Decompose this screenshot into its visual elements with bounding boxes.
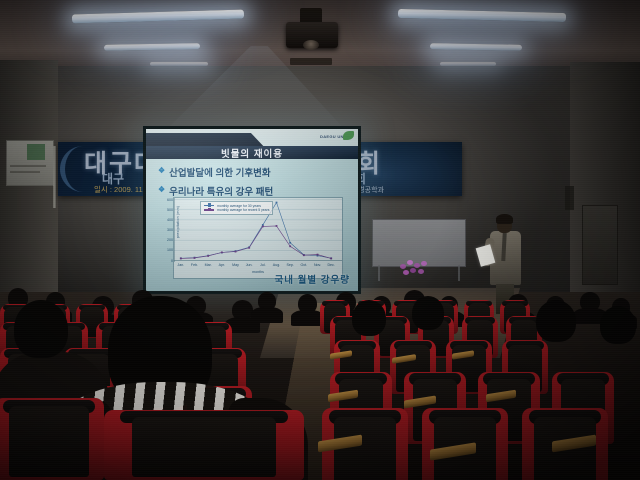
list-item: ❖ 우리나라 특유의 강우 패턴 [158,184,348,198]
audience-head [14,300,68,358]
chart-y-tick: 100 [167,248,173,252]
seat-cushion [334,417,396,480]
chart-x-tick: Aug. [273,263,280,267]
chart-x-tick: Dec. [327,263,334,267]
chart-legend: monthly average for 30 years monthly ave… [200,201,273,215]
chart-x-tick: Sep. [286,263,293,267]
chart-x-tick: Jul. [260,263,266,267]
presenter-hair [496,214,513,224]
leaf-icon [343,131,354,140]
wall-pipe [53,146,56,208]
fluorescent-light-icon [150,62,208,66]
chart-x-tick: Nov. [314,263,321,267]
poster-text-line [10,165,46,167]
flower-icon [400,264,406,269]
bullet-text: 우리나라 특유의 강우 패턴 [169,184,273,198]
legend-swatch-icon [204,209,214,211]
chart-y-tick: 0 [171,259,173,263]
audience-head [412,296,444,330]
legend-label: monthly average for recent 5 years [217,208,269,212]
fluorescent-light-icon [440,62,496,66]
flower-arrangement [398,258,432,280]
audience-shoulders [251,307,283,323]
legend-entry: monthly average for 30 years [204,204,269,208]
bullet-text: 산업발달에 의한 기후변화 [169,165,270,179]
seat-cushion [9,406,88,477]
ceiling-vent [290,58,332,65]
chart-y-tick: 500 [167,208,173,212]
precipitation-chart: precipitation (mm) 0100200300400500600 J… [173,197,343,279]
flower-icon [403,270,409,275]
wall-poster [6,140,54,186]
whiteboard-leg [378,265,380,281]
wall-panel [565,186,574,210]
projection-screen: 빗물의 재이용 DAEGU UNIV. ❖ 산업발달에 의한 기후변화 ❖ 우리… [146,129,358,291]
doorway [582,205,618,285]
poster-text-line [10,171,40,173]
whiteboard-leg [458,265,460,281]
flower-icon [414,263,420,268]
chart-x-tick: May [232,263,239,267]
chart-y-tick: 400 [167,218,173,222]
chart-x-tick: Feb. [191,263,198,267]
slide-title: 빗물의 재이용 [146,146,358,159]
legend-entry: monthly average for recent 5 years [204,208,269,212]
audience-head [600,306,636,344]
chart-x-tick: Jun. [246,263,253,267]
chart-y-axis-ticks: 0100200300400500600 [161,198,173,262]
audience-head [536,300,576,342]
projector-lens [303,40,319,50]
chart-x-tick: Mar. [205,263,212,267]
bullet-marker-icon: ❖ [158,165,165,177]
seat-cushion [132,417,276,477]
foreground-seat [104,410,304,480]
poster-graphic [27,144,45,160]
slide-caption: 국내 월별 강우량 [275,272,350,286]
bullet-marker-icon: ❖ [158,184,165,196]
lecture-hall-photo: 대구대 대구 일시 : 2009. 11. 20 발표회 발표회 대구대학교 환… [0,0,640,480]
foreground-seat-left [0,398,104,480]
flower-icon [418,269,424,274]
legend-label: monthly average for 30 years [217,204,261,208]
flower-icon [407,260,413,265]
chart-x-tick: Jan. [177,263,184,267]
flower-icon [421,261,427,266]
chart-y-tick: 600 [167,198,173,202]
chart-x-tick: Oct. [301,263,308,267]
slide-logo: DAEGU UNIV. [320,131,354,143]
list-item: ❖ 산업발달에 의한 기후변화 [158,165,348,179]
chart-y-tick: 300 [167,228,173,232]
chart-x-tick: Apr. [219,263,225,267]
audience-head [352,300,386,336]
legend-swatch-icon [204,205,214,207]
flower-icon [410,268,416,273]
chart-y-tick: 200 [167,238,173,242]
